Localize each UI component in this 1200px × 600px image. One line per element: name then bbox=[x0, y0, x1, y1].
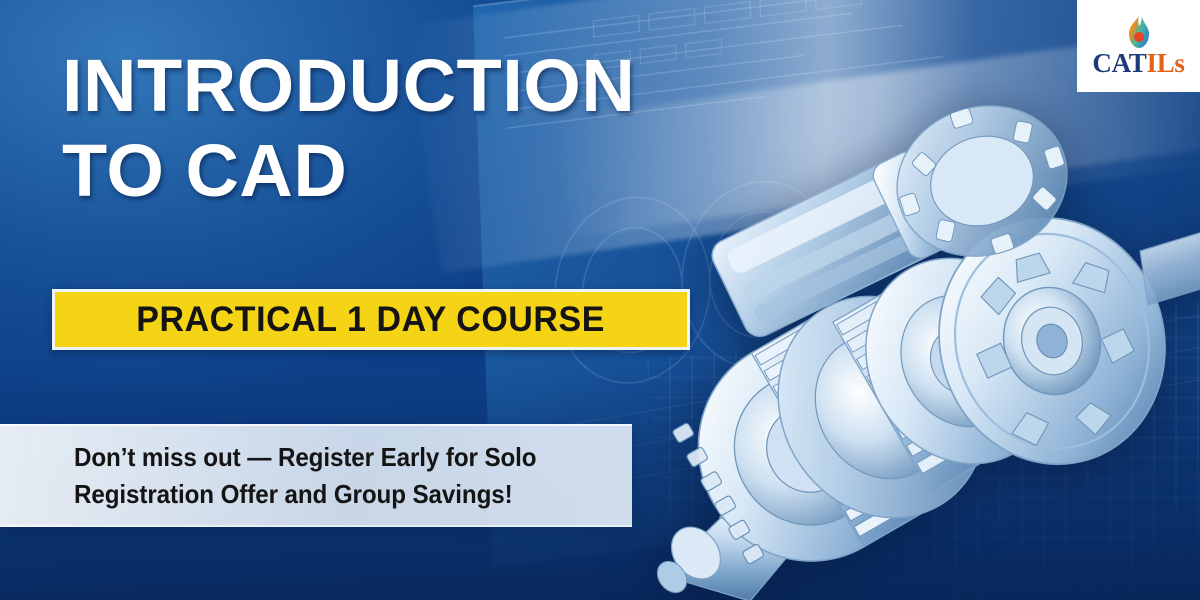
brand-name-secondary: IL bbox=[1146, 48, 1174, 78]
headline-line-1: INTRODUCTION bbox=[62, 50, 822, 121]
headline-line-2: TO CAD bbox=[62, 135, 822, 206]
brand-name-secondary-small: s bbox=[1174, 48, 1184, 78]
promo-banner: INTRODUCTION TO CAD PRACTICAL 1 DAY COUR… bbox=[0, 0, 1200, 600]
brand-name-primary: CAT bbox=[1092, 48, 1146, 78]
flame-icon bbox=[1126, 15, 1152, 49]
info-line-1: Don’t miss out — Register Early for Solo bbox=[74, 439, 580, 476]
brand-wordmark: CATILs bbox=[1092, 50, 1184, 77]
brand-logo[interactable]: CATILs bbox=[1077, 0, 1200, 92]
course-format-badge: PRACTICAL 1 DAY COURSE bbox=[52, 289, 690, 350]
badge-label: PRACTICAL 1 DAY COURSE bbox=[137, 300, 606, 340]
page-title: INTRODUCTION TO CAD bbox=[62, 50, 822, 206]
flame-core-dot bbox=[1134, 32, 1144, 42]
info-line-2: Registration Offer and Group Savings! bbox=[74, 476, 580, 513]
promo-info-panel: Don’t miss out — Register Early for Solo… bbox=[0, 424, 632, 527]
rear-shaft bbox=[1140, 223, 1200, 305]
